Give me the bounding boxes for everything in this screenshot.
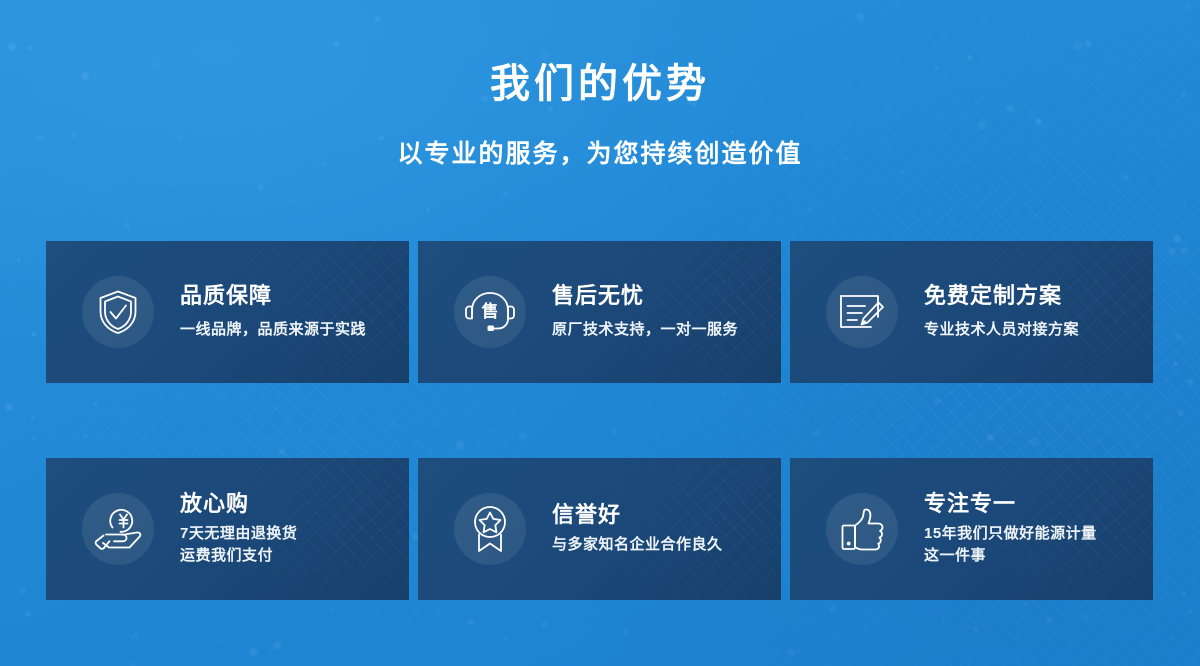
thumbs-up-icon [826, 493, 898, 565]
card-title: 信誉好 [552, 502, 723, 527]
shield-check-icon [82, 276, 154, 348]
page-subtitle: 以专业的服务，为您持续创造价值 [0, 134, 1200, 170]
card-desc-line2: 这一件事 [924, 545, 1097, 567]
card-title: 售后无忧 [552, 283, 738, 308]
card-desc-line1: 专业技术人员对接方案 [924, 321, 1079, 338]
card-description: 7天无理由退换货 运费我们支付 [180, 523, 297, 567]
advantage-card-grid: 品质保障 一线品牌，品质来源于实践 售 售后无忧 [46, 241, 1155, 600]
card-desc-line1: 原厂技术支持，一对一服务 [552, 321, 738, 338]
card-desc-line2: 运费我们支付 [180, 545, 297, 567]
card-description: 一线品牌，品质来源于实践 [180, 319, 366, 341]
card-desc-line1: 15年我们只做好能源计量 [924, 523, 1097, 545]
advantage-card[interactable]: 品质保障 一线品牌，品质来源于实践 [46, 241, 409, 383]
section-header: 我们的优势 以专业的服务，为您持续创造价值 [0, 62, 1200, 170]
advantage-card[interactable]: 专注专一 15年我们只做好能源计量 这一件事 [790, 458, 1153, 600]
card-description: 专业技术人员对接方案 [924, 319, 1079, 341]
card-description: 15年我们只做好能源计量 这一件事 [924, 523, 1097, 567]
headset-icon-label: 售 [482, 301, 499, 321]
advantage-card[interactable]: 放心购 7天无理由退换货 运费我们支付 [46, 458, 409, 600]
page-title: 我们的优势 [0, 62, 1200, 106]
advantage-card[interactable]: 免费定制方案 专业技术人员对接方案 [790, 241, 1153, 383]
document-pencil-icon [826, 276, 898, 348]
card-title: 放心购 [180, 491, 297, 516]
card-desc-line1: 与多家知名企业合作良久 [552, 536, 723, 553]
card-desc-line1: 一线品牌，品质来源于实践 [180, 321, 366, 338]
medal-star-icon [454, 493, 526, 565]
card-description: 原厂技术支持，一对一服务 [552, 319, 738, 341]
advantage-card[interactable]: 信誉好 与多家知名企业合作良久 [418, 458, 781, 600]
card-description: 与多家知名企业合作良久 [552, 534, 723, 556]
card-title: 品质保障 [180, 283, 366, 308]
card-title: 免费定制方案 [924, 283, 1079, 308]
headset-service-icon: 售 [454, 276, 526, 348]
hand-coin-yuan-icon [82, 493, 154, 565]
card-title: 专注专一 [924, 491, 1097, 516]
advantage-card[interactable]: 售 售后无忧 原厂技术支持，一对一服务 [418, 241, 781, 383]
card-desc-line1: 7天无理由退换货 [180, 523, 297, 545]
